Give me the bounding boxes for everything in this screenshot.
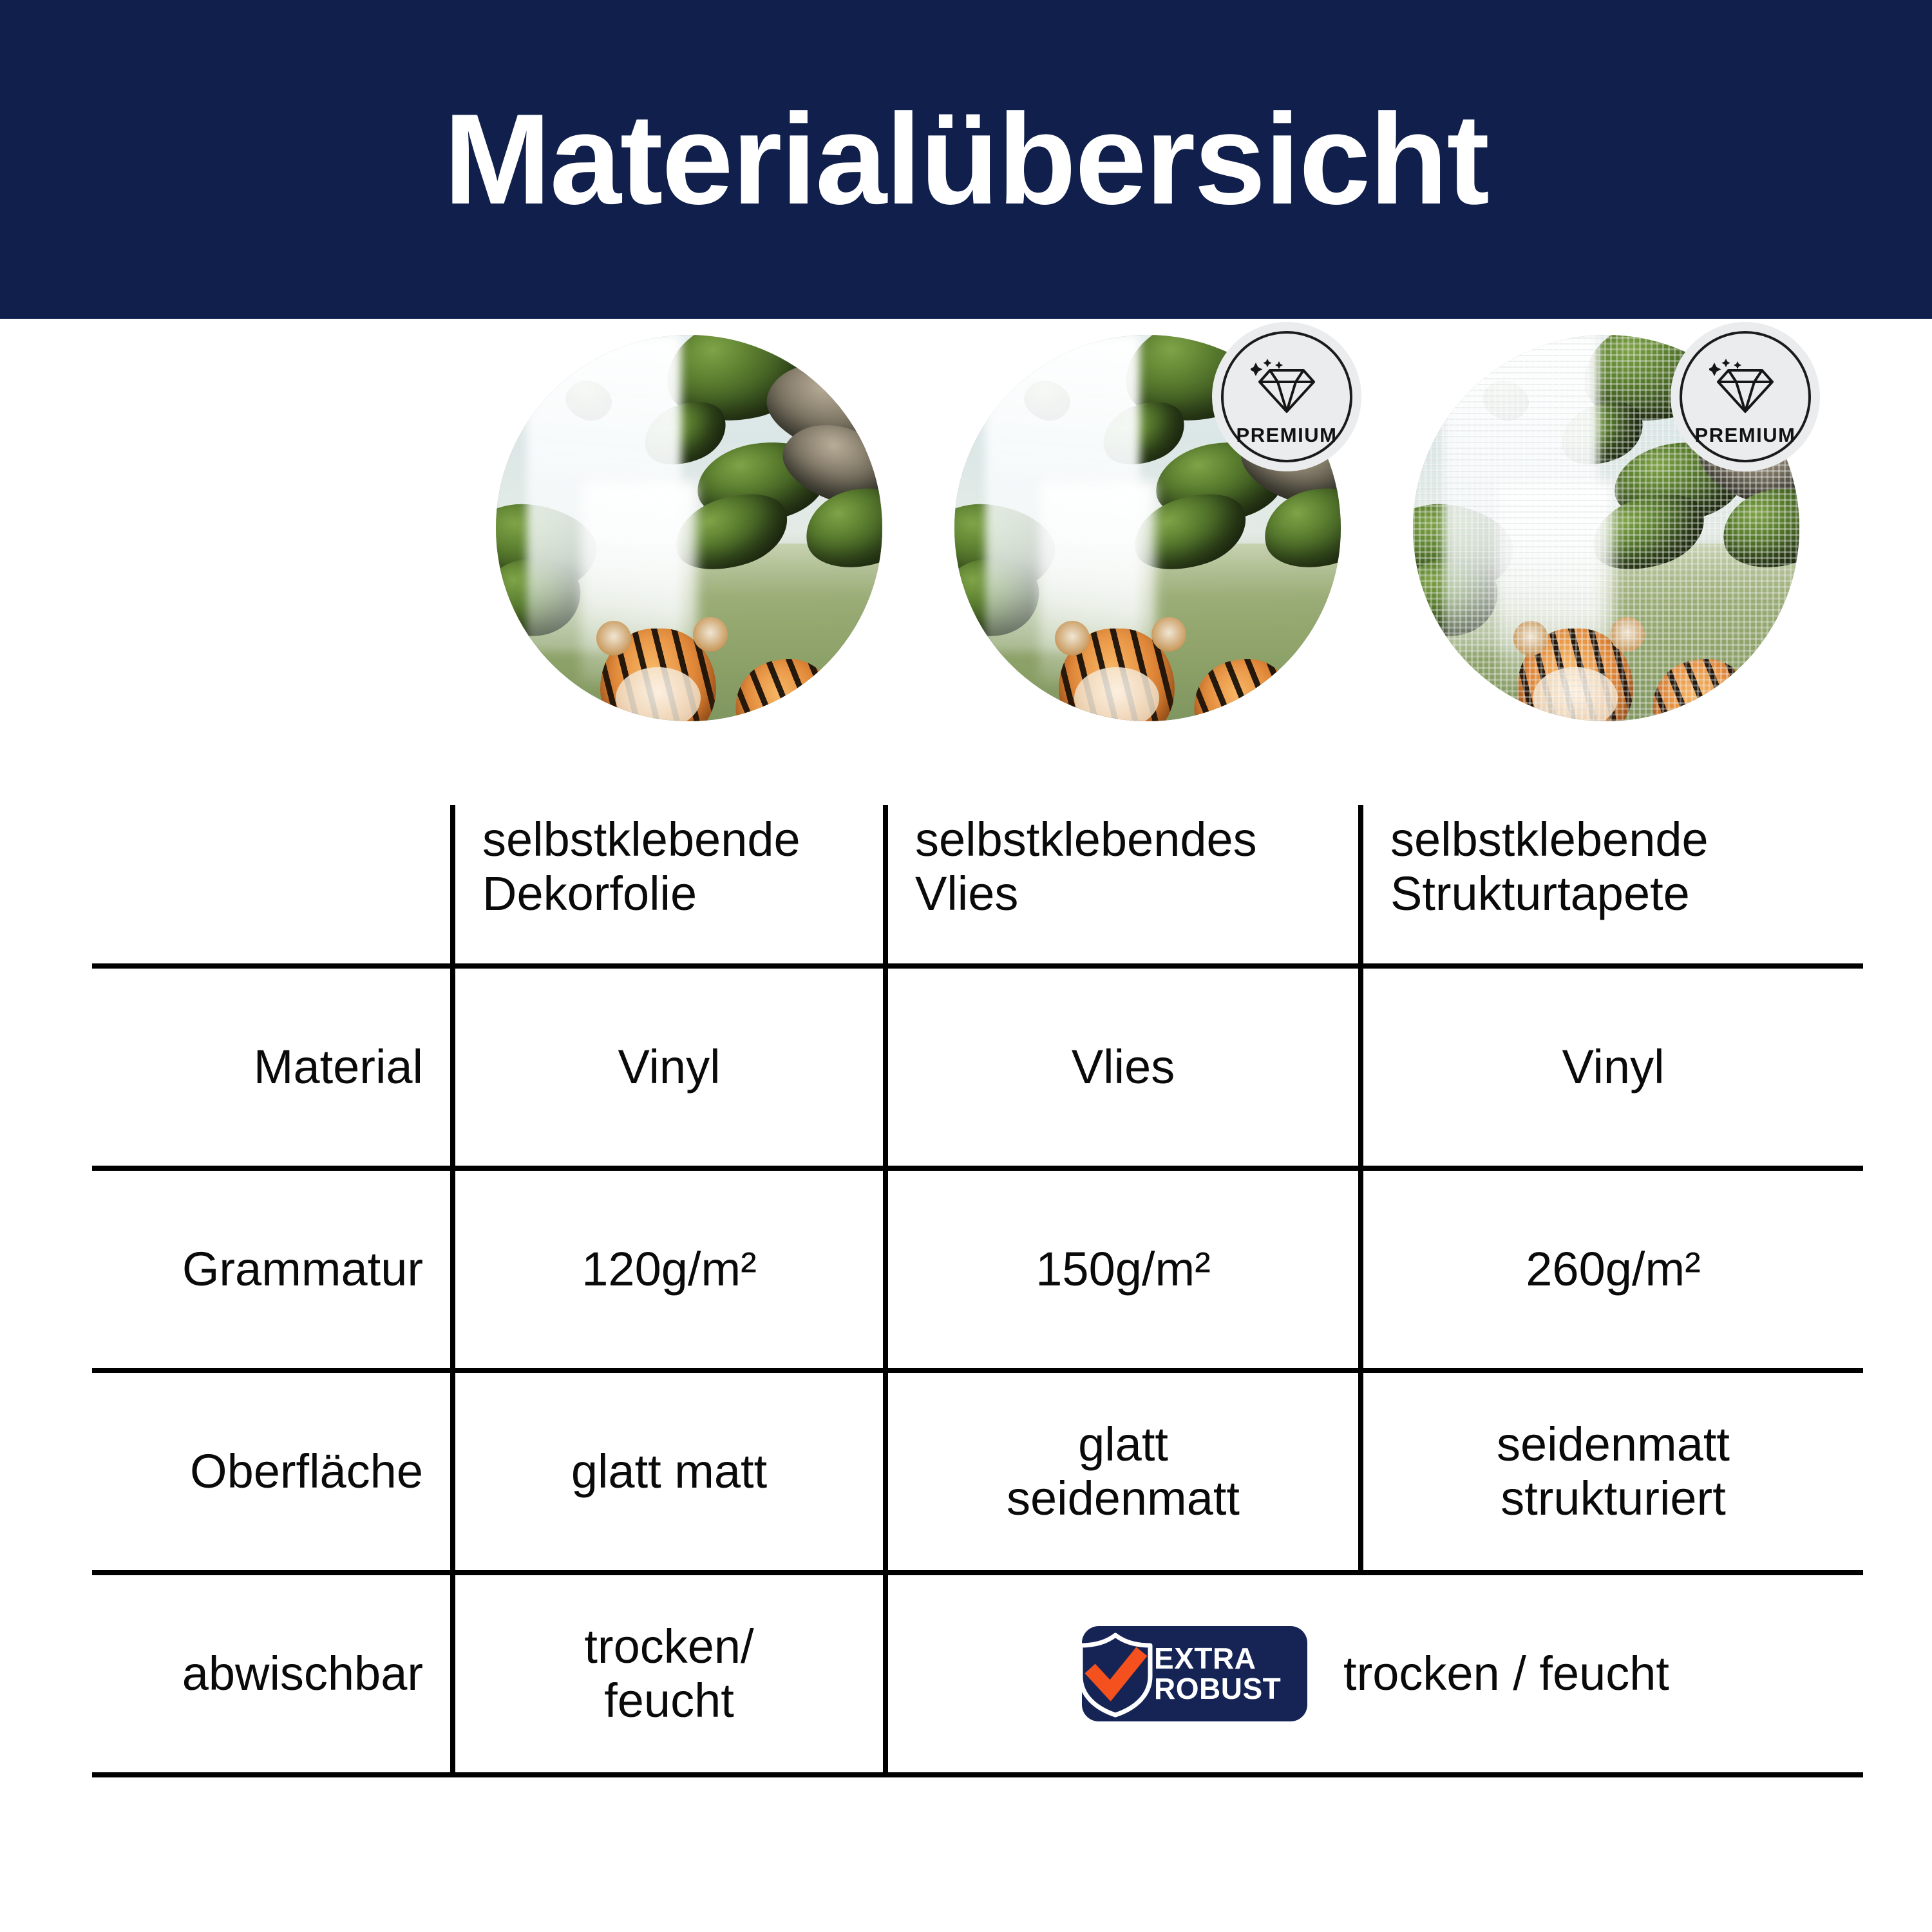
page-header: Materialübersicht bbox=[0, 0, 1932, 319]
scene-tiger-ear bbox=[1151, 617, 1186, 652]
cell-grammatur-strukturtapete: 260g/m² bbox=[1361, 1168, 1863, 1370]
premium-badge-strukturtapete: PREMIUM bbox=[1671, 322, 1820, 471]
cell-abwischbar-merged: EXTRA ROBUST trocken / feucht bbox=[885, 1573, 1863, 1775]
cell-grammatur-vlies: 150g/m² bbox=[885, 1168, 1361, 1370]
column-header-strukturtapete: selbstklebende Strukturtapete bbox=[1361, 805, 1863, 966]
swatch-strukturtapete[interactable]: PREMIUM bbox=[1413, 335, 1799, 721]
swatch-vlies[interactable]: PREMIUM bbox=[954, 335, 1341, 721]
table-row: Grammatur 120g/m² 150g/m² 260g/m² bbox=[92, 1168, 1863, 1370]
extra-robust-badge: EXTRA ROBUST bbox=[1082, 1626, 1307, 1721]
page-title: Materialübersicht bbox=[444, 95, 1488, 224]
table-row: Material Vinyl Vlies Vinyl bbox=[92, 966, 1863, 1168]
column-header-line2: Strukturtapete bbox=[1390, 867, 1857, 921]
swatch-dekorfolie[interactable] bbox=[496, 335, 882, 721]
column-header-line1: selbstklebende bbox=[1390, 813, 1857, 867]
column-header-line1: selbstklebendes bbox=[915, 813, 1352, 867]
scene-tiger-ear bbox=[693, 617, 728, 652]
scene-tiger-ear bbox=[1055, 621, 1090, 656]
extra-robust-label: EXTRA ROBUST bbox=[1154, 1643, 1281, 1704]
premium-badge-label: PREMIUM bbox=[1695, 424, 1796, 447]
column-header-line2: Vlies bbox=[915, 867, 1352, 921]
column-header-line2: Dekorfolie bbox=[482, 867, 876, 921]
cell-abwischbar-dekorfolie: trocken/ feucht bbox=[453, 1573, 885, 1775]
column-header-vlies: selbstklebendes Vlies bbox=[885, 805, 1361, 966]
scene-tiger-ear bbox=[596, 621, 631, 656]
extra-robust-line2: ROBUST bbox=[1154, 1674, 1281, 1704]
cell-material-vlies: Vlies bbox=[885, 966, 1361, 1168]
cell-grammatur-dekorfolie: 120g/m² bbox=[453, 1168, 885, 1370]
cell-material-dekorfolie: Vinyl bbox=[453, 966, 885, 1168]
row-label-abwischbar: abwischbar bbox=[92, 1573, 453, 1775]
cell-oberflaeche-vlies: glatt seidenmatt bbox=[885, 1370, 1361, 1573]
cell-line1: glatt bbox=[895, 1417, 1352, 1472]
row-label-material: Material bbox=[92, 966, 453, 1168]
material-swatch-row: PREMIUM bbox=[0, 319, 1932, 770]
table-header-row: selbstklebende Dekorfolie selbstklebende… bbox=[92, 805, 1863, 966]
swatch-image-dekorfolie bbox=[496, 335, 882, 721]
premium-badge-vlies: PREMIUM bbox=[1212, 322, 1361, 471]
cell-oberflaeche-strukturtapete: seidenmatt strukturiert bbox=[1361, 1370, 1863, 1573]
row-label-oberflaeche: Oberfläche bbox=[92, 1370, 453, 1573]
table-row-wipeable: abwischbar trocken/ feucht bbox=[92, 1573, 1863, 1775]
material-comparison-table: selbstklebende Dekorfolie selbstklebende… bbox=[92, 805, 1863, 1777]
cell-line1: trocken/ bbox=[462, 1620, 876, 1674]
table-corner-cell bbox=[92, 805, 453, 966]
column-header-line1: selbstklebende bbox=[482, 813, 876, 867]
diamond-icon bbox=[1251, 357, 1323, 420]
table-row: Oberfläche glatt matt glatt seidenmatt s… bbox=[92, 1370, 1863, 1573]
column-header-dekorfolie: selbstklebende Dekorfolie bbox=[453, 805, 885, 966]
material-comparison-table-wrap: selbstklebende Dekorfolie selbstklebende… bbox=[0, 770, 1932, 1916]
cell-line2: seidenmatt bbox=[895, 1472, 1352, 1526]
wipeable-merged-text: trocken / feucht bbox=[1343, 1647, 1669, 1701]
cell-material-strukturtapete: Vinyl bbox=[1361, 966, 1863, 1168]
wipeable-merged-content: EXTRA ROBUST trocken / feucht bbox=[895, 1626, 1857, 1721]
cell-line2: feucht bbox=[462, 1674, 876, 1728]
row-label-grammatur: Grammatur bbox=[92, 1168, 453, 1370]
extra-robust-line1: EXTRA bbox=[1154, 1643, 1281, 1674]
cell-line2: strukturiert bbox=[1370, 1472, 1857, 1526]
shield-check-icon bbox=[1073, 1631, 1158, 1718]
cell-line1: seidenmatt bbox=[1370, 1417, 1857, 1472]
diamond-icon bbox=[1709, 357, 1781, 420]
cell-oberflaeche-dekorfolie: glatt matt bbox=[453, 1370, 885, 1573]
premium-badge-label: PREMIUM bbox=[1236, 424, 1338, 447]
